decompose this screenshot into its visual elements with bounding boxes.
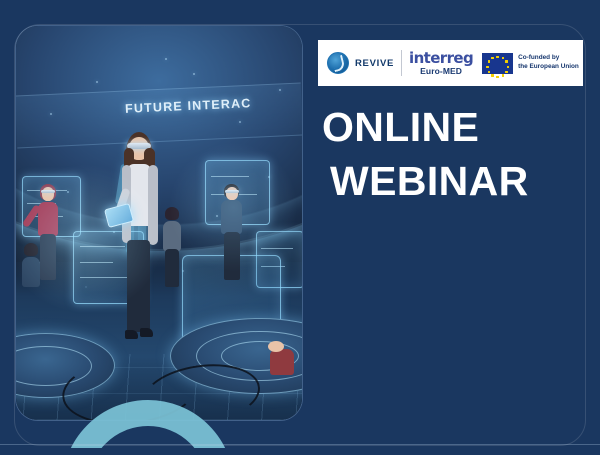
headline-line-1: ONLINE — [322, 100, 584, 154]
webinar-poster: FUTURE INTERAC — [0, 0, 600, 455]
logo-divider — [401, 50, 402, 76]
scene-glow-overlay — [16, 26, 302, 420]
arc-bottom-mask — [0, 448, 600, 455]
bottom-divider — [0, 444, 600, 445]
eu-cofunding-logo: Co-funded by the European Union — [482, 40, 579, 86]
vr-scene-image: FUTURE INTERAC — [16, 26, 302, 420]
revive-circular-logo-icon — [327, 52, 349, 74]
eu-cofunding-line1: Co-funded by — [518, 54, 579, 63]
interreg-programme-label: Euro-MED — [420, 67, 462, 76]
interreg-logo: interreg Euro-MED — [409, 40, 473, 86]
revive-label: REVIVE — [355, 58, 394, 69]
revive-logo: REVIVE — [318, 40, 394, 86]
eu-cofunding-line2: the European Union — [518, 63, 579, 72]
partner-logo-bar: REVIVE interreg Euro-MED — [318, 40, 583, 86]
interreg-wordmark: interreg — [409, 51, 473, 66]
eu-cofunding-text: Co-funded by the European Union — [518, 54, 579, 72]
hero-photo-card: FUTURE INTERAC — [16, 26, 302, 420]
eu-flag-icon — [482, 53, 513, 74]
page-title: ONLINE WEBINAR — [322, 100, 584, 208]
headline-line-2: WEBINAR — [322, 154, 584, 208]
